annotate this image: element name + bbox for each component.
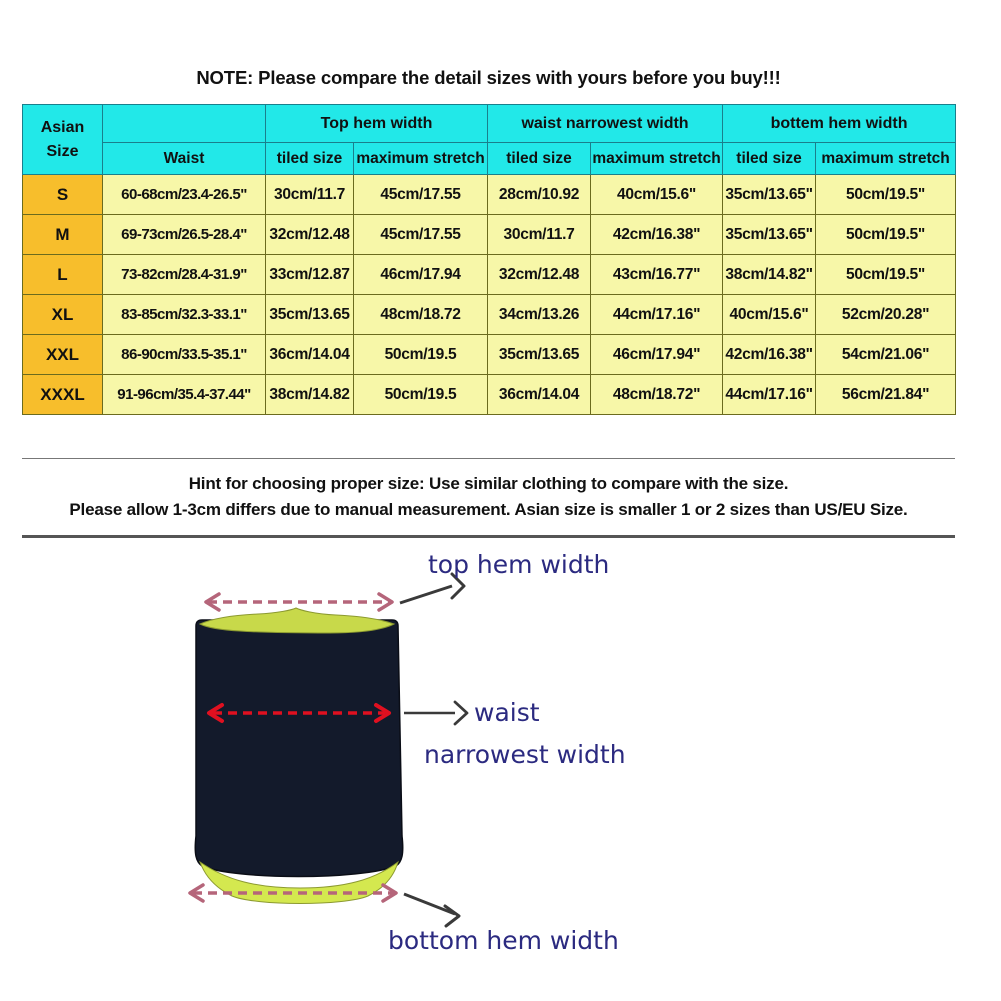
cell-top-stretch: 45cm/17.55 [354,175,488,215]
table-row: XXXL 91-96cm/35.4-37.44" 38cm/14.82 50cm… [23,375,956,415]
table-row: M 69-73cm/26.5-28.4" 32cm/12.48 45cm/17.… [23,215,956,255]
cell-top-stretch: 45cm/17.55 [354,215,488,255]
header-asian-size: Asian Size [23,105,103,175]
cell-waist-stretch: 42cm/16.38" [591,215,723,255]
cell-bottom-tiled: 40cm/15.6" [723,295,816,335]
cell-top-tiled: 35cm/13.65 [266,295,354,335]
diagram-label-waist: waist [474,698,540,727]
cell-bottom-stretch: 50cm/19.5" [816,255,956,295]
header-top-tiled-size: tiled size [266,143,354,175]
cell-waist: 73-82cm/28.4-31.9" [103,255,266,295]
cell-size: L [23,255,103,295]
header-waist-tiled-size: tiled size [488,143,591,175]
hint-line-1: Hint for choosing proper size: Use simil… [189,474,789,494]
cell-waist: 60-68cm/23.4-26.5" [103,175,266,215]
diagram-label-narrowest-width: narrowest width [424,740,626,769]
sizing-hint-footer: Hint for choosing proper size: Use simil… [22,458,955,538]
cell-top-tiled: 36cm/14.04 [266,335,354,375]
cell-size: XL [23,295,103,335]
garment-top-lining [200,608,394,633]
header-bottom-tiled-size: tiled size [723,143,816,175]
cell-top-tiled: 33cm/12.87 [266,255,354,295]
table-row: XL 83-85cm/32.3-33.1" 35cm/13.65 48cm/18… [23,295,956,335]
cell-waist-tiled: 34cm/13.26 [488,295,591,335]
diagram-label-top-hem-width: top hem width [428,550,609,579]
cell-size: XXXL [23,375,103,415]
top-hem-measure-arrow [206,594,392,610]
header-waist-maximum-stretch: maximum stretch [591,143,723,175]
size-chart-table: Asian Size Top hem width waist narrowest… [22,104,956,415]
diagram-label-bottom-hem-width: bottom hem width [388,926,619,955]
cell-waist: 69-73cm/26.5-28.4" [103,215,266,255]
cell-bottom-tiled: 35cm/13.65" [723,175,816,215]
header-group-bottom-hem-width: bottem hem width [723,105,956,143]
bottom-hem-leader-line [404,894,459,926]
measurement-diagram: top hem width waist narrowest width bott… [0,536,1001,1001]
cell-waist-stretch: 46cm/17.94" [591,335,723,375]
cell-bottom-tiled: 35cm/13.65" [723,215,816,255]
cell-size: S [23,175,103,215]
header-top-maximum-stretch: maximum stretch [354,143,488,175]
cell-top-tiled: 32cm/12.48 [266,215,354,255]
table-row: S 60-68cm/23.4-26.5" 30cm/11.7 45cm/17.5… [23,175,956,215]
cell-bottom-stretch: 50cm/19.5" [816,175,956,215]
cell-top-stretch: 50cm/19.5 [354,375,488,415]
cell-bottom-stretch: 54cm/21.06" [816,335,956,375]
garment-body-shape [195,620,403,877]
cell-waist-stretch: 44cm/17.16" [591,295,723,335]
cell-top-stretch: 46cm/17.94 [354,255,488,295]
cell-waist: 86-90cm/33.5-35.1" [103,335,266,375]
cell-bottom-stretch: 56cm/21.84" [816,375,956,415]
cell-top-stretch: 50cm/19.5 [354,335,488,375]
table-header-row-groups: Asian Size Top hem width waist narrowest… [23,105,956,143]
cell-size: M [23,215,103,255]
header-waist: Waist [103,143,266,175]
note-banner: NOTE: Please compare the detail sizes wi… [22,60,955,96]
note-text: NOTE: Please compare the detail sizes wi… [196,67,780,89]
table-header-row-sub: Waist tiled size maximum stretch tiled s… [23,143,956,175]
cell-bottom-tiled: 38cm/14.82" [723,255,816,295]
table-row: XXL 86-90cm/33.5-35.1" 36cm/14.04 50cm/1… [23,335,956,375]
cell-waist-tiled: 32cm/12.48 [488,255,591,295]
cell-waist-tiled: 30cm/11.7 [488,215,591,255]
waist-leader-line [404,702,467,724]
cell-bottom-tiled: 44cm/17.16" [723,375,816,415]
cell-top-tiled: 38cm/14.82 [266,375,354,415]
size-chart-table-container: Asian Size Top hem width waist narrowest… [22,104,955,415]
table-row: L 73-82cm/28.4-31.9" 33cm/12.87 46cm/17.… [23,255,956,295]
cell-top-tiled: 30cm/11.7 [266,175,354,215]
header-bottom-maximum-stretch: maximum stretch [816,143,956,175]
cell-size: XXL [23,335,103,375]
header-asian-size-line2: Size [23,140,102,163]
cell-waist: 83-85cm/32.3-33.1" [103,295,266,335]
header-group-top-hem-width: Top hem width [266,105,488,143]
cell-waist-tiled: 28cm/10.92 [488,175,591,215]
header-group-blank [103,105,266,143]
header-asian-size-line1: Asian [23,116,102,139]
cell-waist-tiled: 36cm/14.04 [488,375,591,415]
cell-bottom-tiled: 42cm/16.38" [723,335,816,375]
cell-waist: 91-96cm/35.4-37.44" [103,375,266,415]
hint-line-2: Please allow 1-3cm differs due to manual… [69,500,907,520]
cell-waist-stretch: 48cm/18.72" [591,375,723,415]
cell-waist-tiled: 35cm/13.65 [488,335,591,375]
cell-bottom-stretch: 52cm/20.28" [816,295,956,335]
header-group-waist-narrowest-width: waist narrowest width [488,105,723,143]
cell-top-stretch: 48cm/18.72 [354,295,488,335]
cell-waist-stretch: 40cm/15.6" [591,175,723,215]
cell-waist-stretch: 43cm/16.77" [591,255,723,295]
size-chart-table-body: S 60-68cm/23.4-26.5" 30cm/11.7 45cm/17.5… [23,175,956,415]
cell-bottom-stretch: 50cm/19.5" [816,215,956,255]
